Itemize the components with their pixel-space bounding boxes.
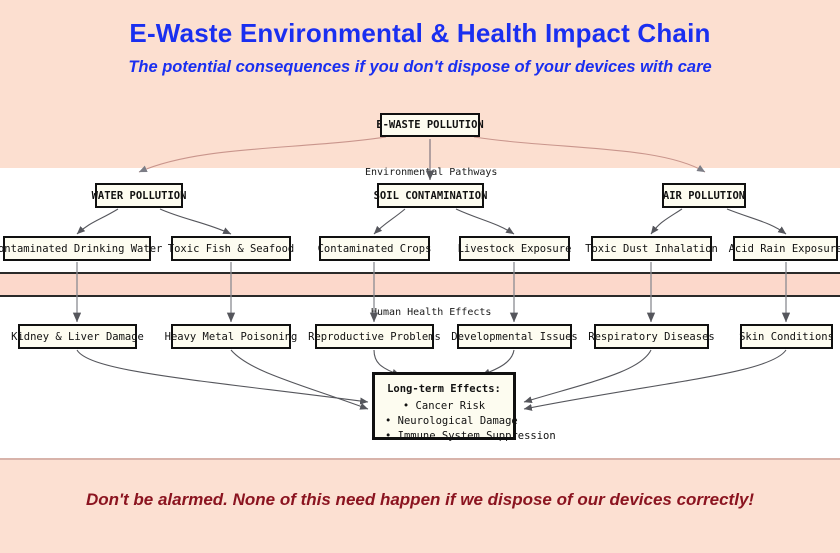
node-contaminated-drinking-water[interactable]: Contaminated Drinking Water bbox=[3, 236, 151, 261]
node-reproductive-problems[interactable]: Reproductive Problems bbox=[315, 324, 434, 349]
node-toxic-fish-seafood[interactable]: Toxic Fish & Seafood bbox=[171, 236, 291, 261]
node-livestock-exposure[interactable]: Livestock Exposure bbox=[459, 236, 570, 261]
diagram-canvas: E-Waste Environmental & Health Impact Ch… bbox=[0, 0, 840, 553]
long-term-item-immune-suppression: • Immune System Suppression bbox=[385, 429, 503, 444]
long-term-title: Long-term Effects: bbox=[385, 382, 503, 397]
node-respiratory-diseases[interactable]: Respiratory Diseases bbox=[594, 324, 709, 349]
node-heavy-metal-poisoning[interactable]: Heavy Metal Poisoning bbox=[171, 324, 291, 349]
node-water-pollution[interactable]: WATER POLLUTION bbox=[95, 183, 183, 208]
node-acid-rain-exposure[interactable]: Acid Rain Exposure bbox=[733, 236, 838, 261]
long-term-item-cancer-risk: • Cancer Risk bbox=[385, 399, 503, 414]
long-term-item-neurological-damage: • Neurological Damage bbox=[385, 414, 503, 429]
connector-layer bbox=[0, 0, 840, 553]
node-contaminated-crops[interactable]: Contaminated Crops bbox=[319, 236, 430, 261]
node-air-pollution[interactable]: AIR POLLUTION bbox=[662, 183, 746, 208]
node-long-term-effects[interactable]: Long-term Effects: • Cancer Risk • Neuro… bbox=[372, 372, 516, 440]
node-soil-contamination[interactable]: SOIL CONTAMINATION bbox=[377, 183, 484, 208]
node-skin-conditions[interactable]: Skin Conditions bbox=[740, 324, 833, 349]
node-kidney-liver-damage[interactable]: Kidney & Liver Damage bbox=[18, 324, 137, 349]
node-toxic-dust-inhalation[interactable]: Toxic Dust Inhalation bbox=[591, 236, 712, 261]
node-e-waste-pollution[interactable]: E-WASTE POLLUTION bbox=[380, 113, 480, 137]
node-developmental-issues[interactable]: Developmental Issues bbox=[457, 324, 572, 349]
